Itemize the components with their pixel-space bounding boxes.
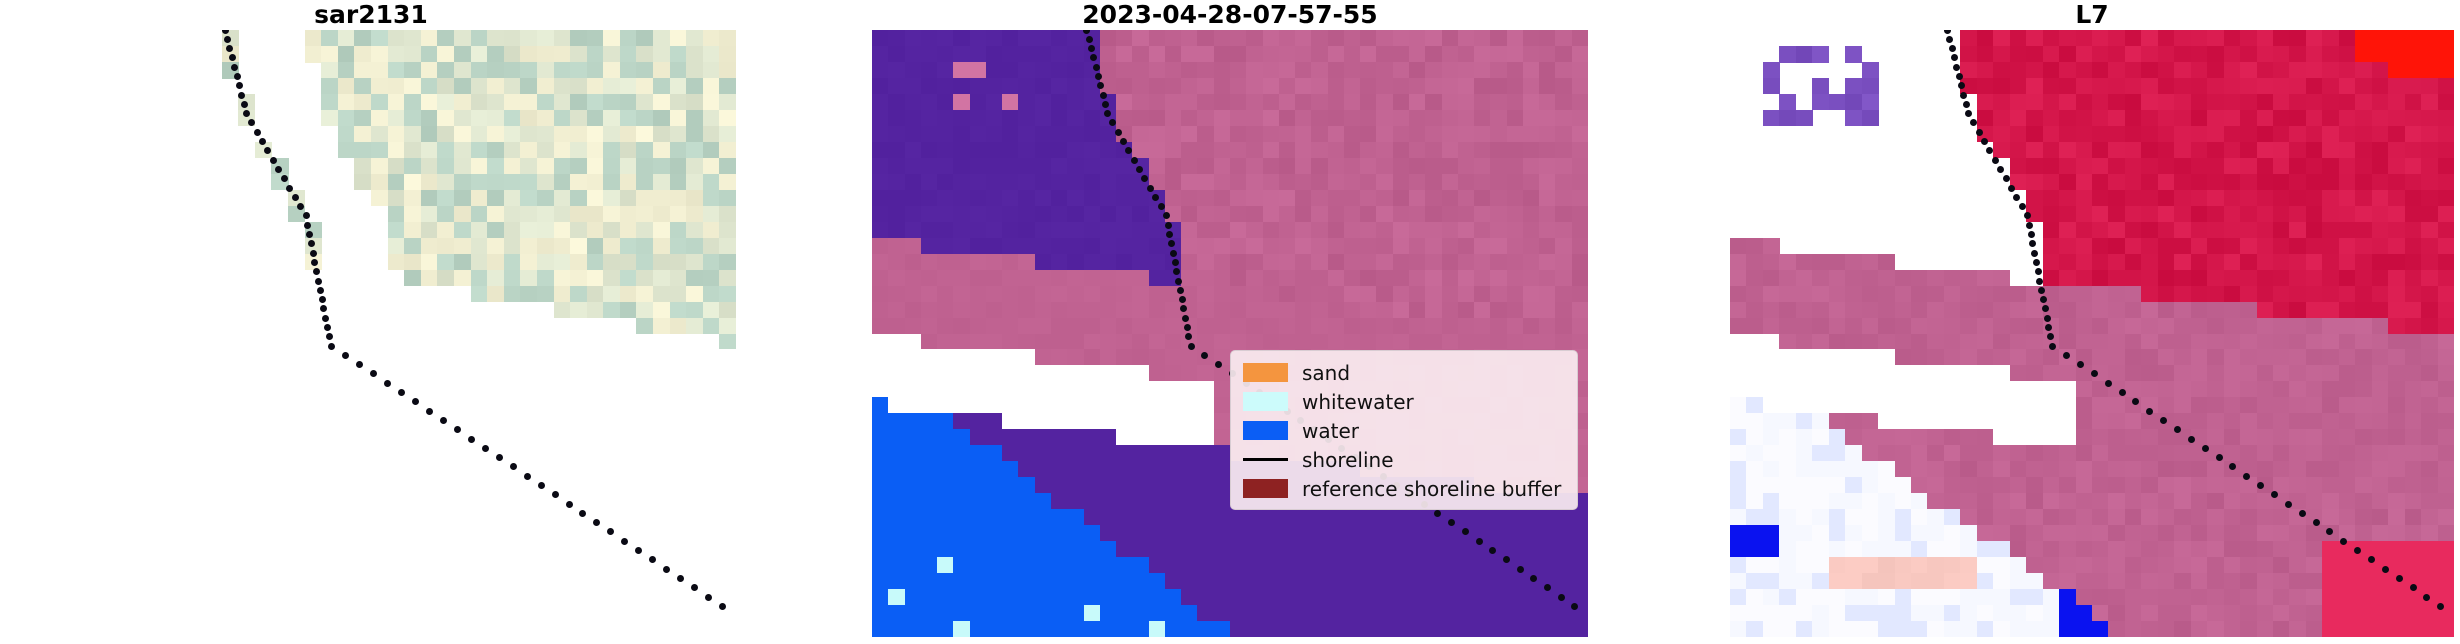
water-swatch-icon [1243,421,1288,440]
panel-1-axes [6,30,736,637]
panel-2-title: 2023-04-28-07-57-55 [872,2,1588,28]
panel-3-shoreline-overlay [1730,30,2454,637]
legend-label-whitewater: whitewater [1302,390,1414,414]
legend-item-shoreline: shoreline [1243,445,1567,474]
legend-label-shoreline: shoreline [1302,448,1394,472]
legend-item-whitewater: whitewater [1243,387,1567,416]
panel-classification: 2023-04-28-07-57-55 sand whitewater wate… [872,0,1588,644]
legend-item-sand: sand [1243,358,1567,387]
legend-label-water: water [1302,419,1359,443]
panel-1-title: sar2131 [6,2,736,28]
legend-item-reference-buffer: reference shoreline buffer [1243,474,1567,503]
panel-2-axes: sand whitewater water shoreline referenc… [872,30,1588,637]
legend-label-sand: sand [1302,361,1350,385]
sand-swatch-icon [1243,363,1288,382]
panel-1-shoreline-overlay [6,30,736,637]
panel-3-axes [1730,30,2454,637]
legend: sand whitewater water shoreline referenc… [1230,350,1578,510]
panel-l7: L7 [1730,0,2454,644]
shoreline-line-icon [1243,450,1288,469]
panel-3-title: L7 [1730,2,2454,28]
legend-label-reference-buffer: reference shoreline buffer [1302,477,1561,501]
figure-canvas: sar2131 2023-04-28-07-57-55 sand whitewa… [0,0,2460,644]
reference-buffer-swatch-icon [1243,479,1288,498]
panel-2-shoreline-overlay [872,30,1588,637]
panel-sar2131: sar2131 [6,0,736,644]
whitewater-swatch-icon [1243,392,1288,411]
legend-item-water: water [1243,416,1567,445]
